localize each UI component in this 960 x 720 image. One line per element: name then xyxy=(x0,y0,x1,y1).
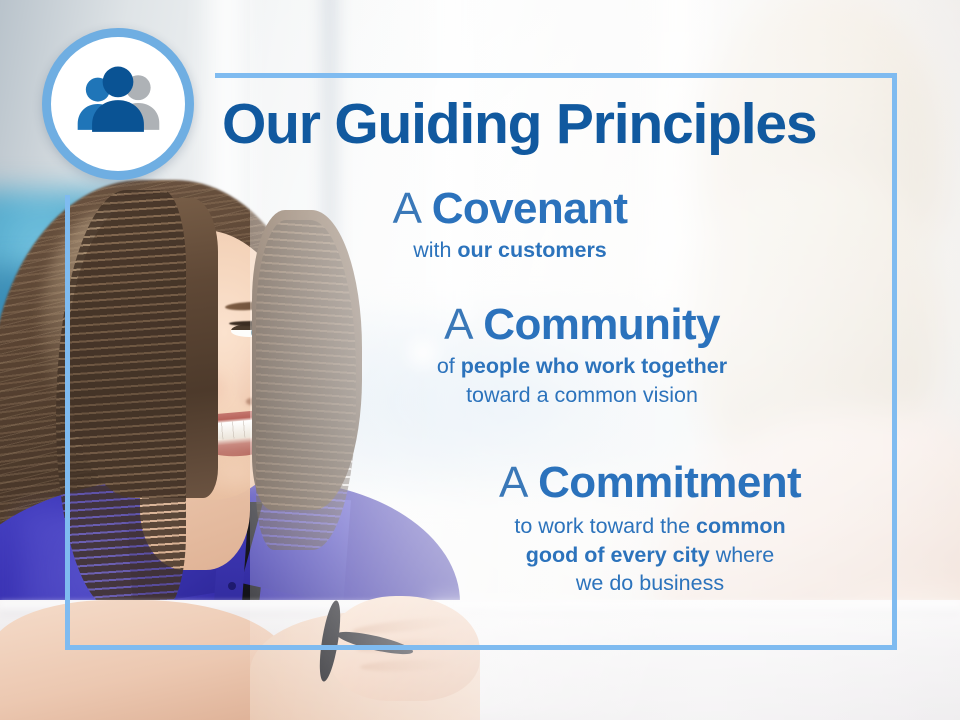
principle-heading: A Community xyxy=(382,302,782,348)
subtext-run: we do business xyxy=(576,571,724,595)
subtext-run: toward a common vision xyxy=(466,383,698,407)
principle-keyword: Community xyxy=(483,300,720,349)
principle-subtext: with our customers xyxy=(330,236,690,264)
subtext-run: of xyxy=(437,354,461,378)
page-title: Our Guiding Principles xyxy=(222,96,816,153)
subtext-emphasis: good of every city xyxy=(526,543,710,567)
principle-article: A xyxy=(444,300,471,349)
principle-heading: A Covenant xyxy=(330,186,690,232)
guiding-principles-graphic: FLOW AUTOMOTIVE FLOW xyxy=(0,0,960,720)
people-group-icon xyxy=(70,56,166,152)
subtext-run: where xyxy=(710,543,775,567)
hair-front-right-strands xyxy=(256,220,356,550)
subtext-run: to work toward the xyxy=(514,514,696,538)
principle-article: A xyxy=(499,458,526,507)
principle-subtext: of people who work togethertoward a comm… xyxy=(382,352,782,409)
principle-keyword: Commitment xyxy=(538,458,801,507)
principle-keyword: Covenant xyxy=(432,184,628,233)
subtext-run: with xyxy=(413,238,457,262)
subtext-emphasis: our customers xyxy=(457,238,606,262)
shirt-button xyxy=(228,582,236,590)
subtext-line: to work toward the common xyxy=(440,512,860,540)
subtext-line: of people who work together xyxy=(382,352,782,380)
subtext-emphasis: common xyxy=(696,514,786,538)
principle-subtext: to work toward the commongood of every c… xyxy=(440,512,860,597)
people-group-badge xyxy=(42,28,194,180)
principle-block-covenant: A Covenant with our customers xyxy=(330,186,690,265)
subtext-line: with our customers xyxy=(330,236,690,264)
principle-block-community: A Community of people who work togethert… xyxy=(382,302,782,409)
subtext-line: toward a common vision xyxy=(382,381,782,409)
principle-heading: A Commitment xyxy=(440,460,860,506)
subtext-emphasis: people who work together xyxy=(461,354,727,378)
principle-block-commitment: A Commitment to work toward the commongo… xyxy=(440,460,860,597)
subtext-line: good of every city where xyxy=(440,541,860,569)
subtext-line: we do business xyxy=(440,569,860,597)
principle-article: A xyxy=(393,184,420,233)
